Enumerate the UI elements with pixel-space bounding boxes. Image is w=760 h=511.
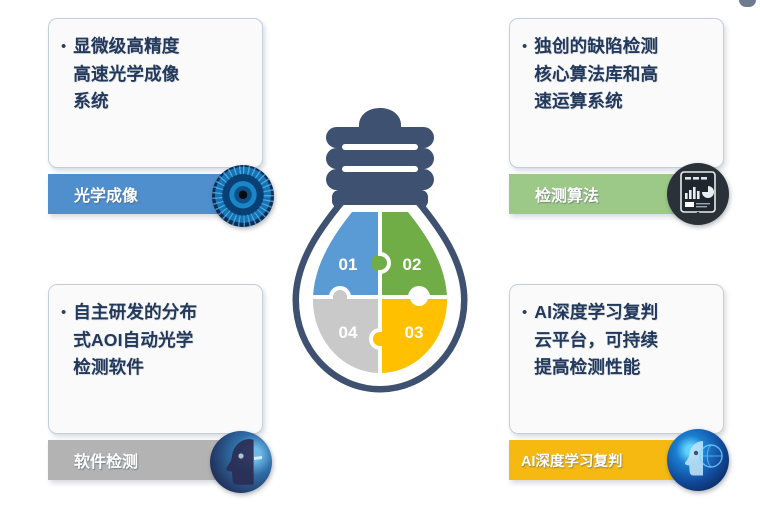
card-line: 系统: [73, 88, 179, 116]
card-body-ai-deep-learning: • AI深度学习复判 云平台，可持续 提高检测性能: [509, 284, 724, 434]
puzzle-label-02: 02: [403, 255, 422, 274]
slide-canvas: • 显微级高精度 高速光学成像 系统 光学成像 • 独创的缺陷检测 核心算法库和…: [0, 0, 760, 511]
card-line: 速运算系统: [534, 88, 658, 116]
card-line: 云平台，可持续: [534, 327, 658, 355]
dashboard-chart-icon: [667, 163, 729, 225]
base-slot: [342, 166, 418, 172]
card-line: 核心算法库和高: [534, 61, 658, 89]
label-bar-text: AI深度学习复判: [521, 450, 623, 471]
bullet-icon: •: [520, 299, 527, 326]
puzzle-label-01: 01: [339, 255, 358, 274]
lightbulb-graphic: 01 02 03 04: [286, 104, 474, 409]
head-profile-icon: [210, 431, 272, 493]
card-body-software-detection: • 自主研发的分布 式AOI自动光学 检测软件: [48, 284, 263, 434]
card-optical-imaging[interactable]: • 显微级高精度 高速光学成像 系统 光学成像: [48, 18, 263, 230]
card-line: AI深度学习复判: [534, 299, 658, 327]
card-line: 检测软件: [73, 354, 197, 382]
label-bar-text: 检测算法: [535, 182, 599, 206]
card-line: 提高检测性能: [534, 354, 658, 382]
bullet-icon: •: [59, 299, 66, 326]
bulb-base: [326, 108, 434, 208]
card-ai-deep-learning[interactable]: • AI深度学习复判 云平台，可持续 提高检测性能 AI深度学习复判: [509, 284, 724, 496]
card-line: 高速光学成像: [73, 61, 179, 89]
card-line: 显微级高精度: [73, 33, 179, 61]
puzzle-label-04: 04: [339, 323, 358, 342]
card-line: 独创的缺陷检测: [534, 33, 658, 61]
base-slot: [342, 144, 418, 150]
card-text-row: • AI深度学习复判 云平台，可持续 提高检测性能: [520, 299, 711, 382]
card-detection-algorithm[interactable]: • 独创的缺陷检测 核心算法库和高 速运算系统 检测算法: [509, 18, 724, 230]
card-body-optical-imaging: • 显微级高精度 高速光学成像 系统: [48, 18, 263, 168]
card-paragraph: 自主研发的分布 式AOI自动光学 检测软件: [73, 299, 197, 382]
label-bar-text: 光学成像: [74, 182, 138, 206]
corner-tab-icon: [739, 0, 756, 7]
card-line: 式AOI自动光学: [73, 327, 197, 355]
bullet-icon: •: [520, 33, 527, 60]
card-body-detection-algorithm: • 独创的缺陷检测 核心算法库和高 速运算系统: [509, 18, 724, 168]
card-text-row: • 独创的缺陷检测 核心算法库和高 速运算系统: [520, 33, 711, 116]
card-software-detection[interactable]: • 自主研发的分布 式AOI自动光学 检测软件 软件检测: [48, 284, 263, 496]
eye-icon: [212, 165, 274, 227]
bullet-icon: •: [59, 33, 66, 60]
card-text-row: • 显微级高精度 高速光学成像 系统: [59, 33, 250, 116]
card-paragraph: 独创的缺陷检测 核心算法库和高 速运算系统: [534, 33, 658, 116]
label-bar-text: 软件检测: [74, 448, 138, 472]
ai-globe-icon: [667, 429, 729, 491]
puzzle-label-03: 03: [405, 323, 424, 342]
card-line: 自主研发的分布: [73, 299, 197, 327]
card-text-row: • 自主研发的分布 式AOI自动光学 检测软件: [59, 299, 250, 382]
card-paragraph: AI深度学习复判 云平台，可持续 提高检测性能: [534, 299, 658, 382]
card-paragraph: 显微级高精度 高速光学成像 系统: [73, 33, 179, 116]
